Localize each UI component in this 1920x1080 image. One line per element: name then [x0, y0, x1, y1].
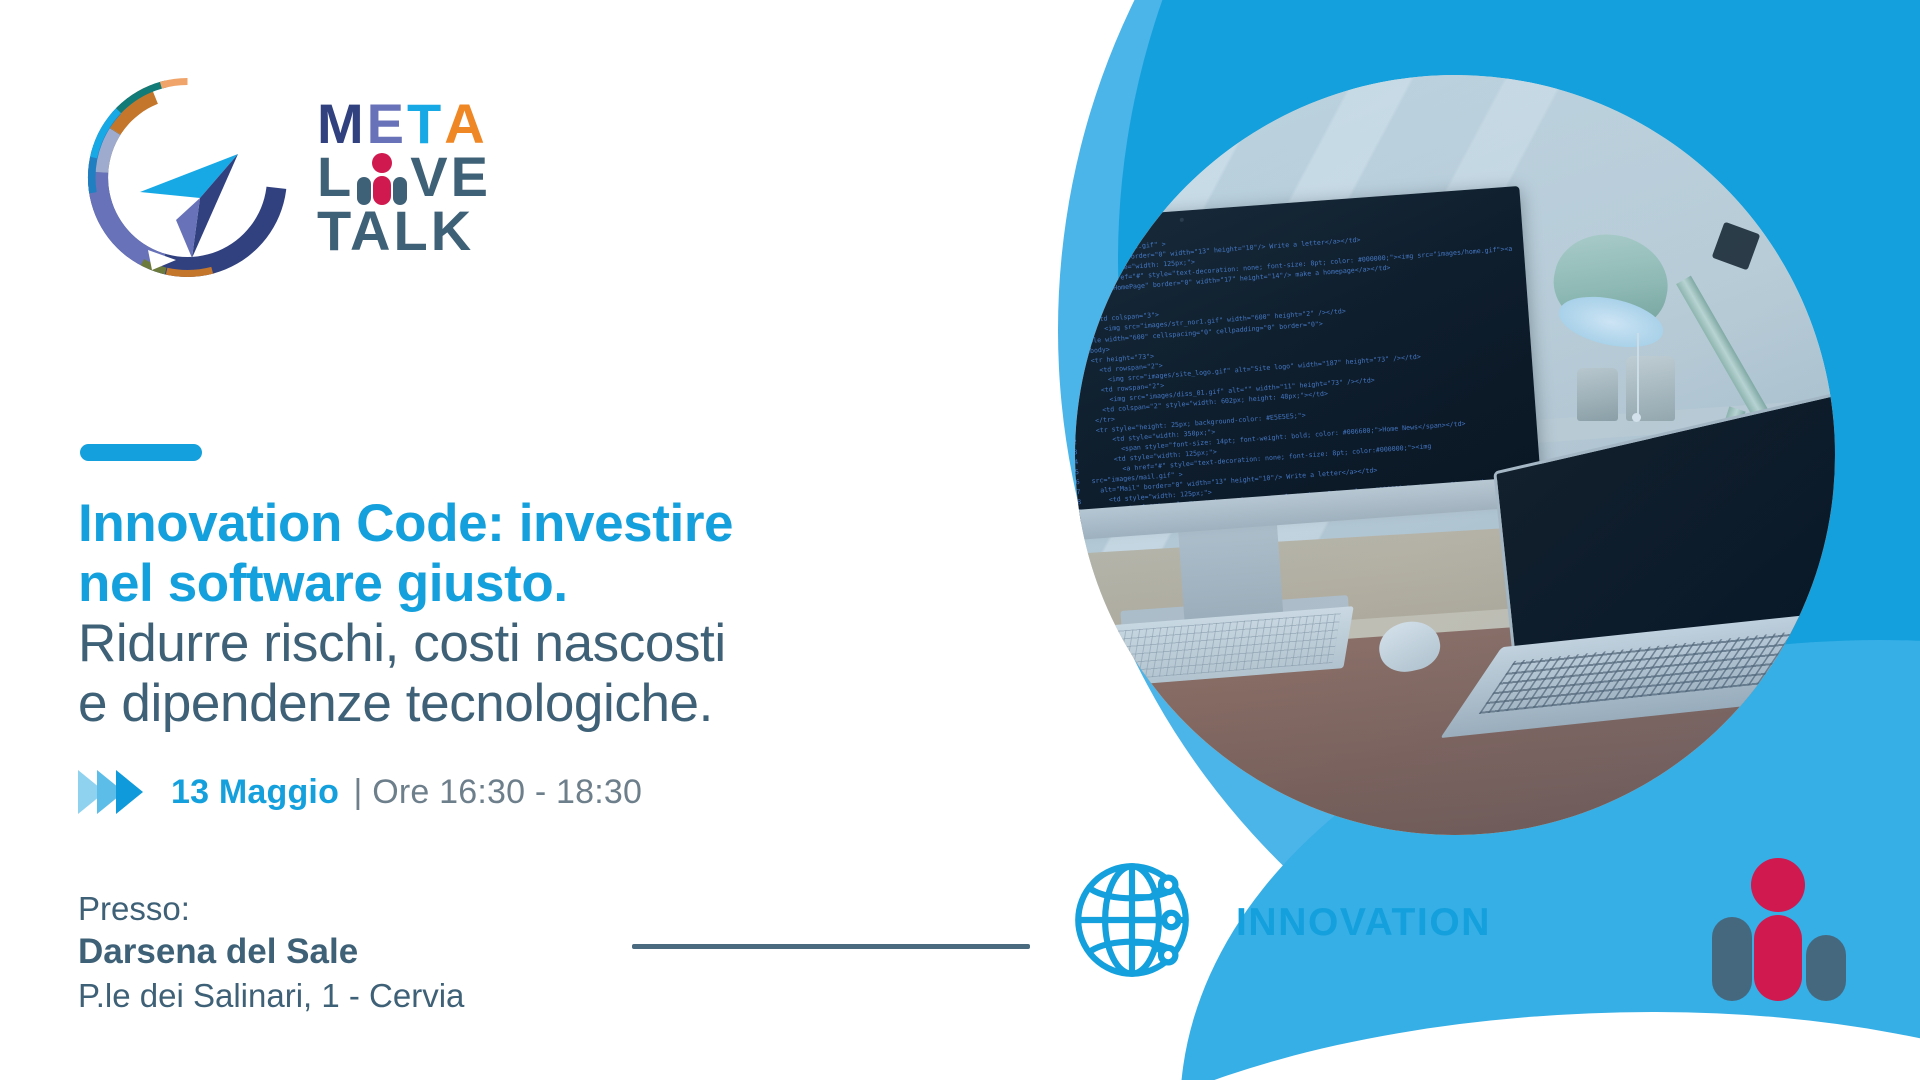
venue-name: Darsena del Sale	[78, 930, 464, 975]
partner-lockup[interactable]: INNOVATION	[1070, 858, 1491, 987]
play-arrows-icon	[78, 770, 143, 814]
photo-blue-tint	[1075, 75, 1835, 835]
logo-letter-a: A	[444, 98, 487, 150]
white-bottom-curve	[980, 1012, 1920, 1080]
logo-live-prefix: L	[317, 151, 354, 205]
event-datetime: 13 Maggio | Ore 16:30 - 18:30	[78, 770, 642, 814]
page-title: Innovation Code: investire nel software …	[78, 494, 938, 734]
accent-bar	[80, 444, 202, 461]
globe-network-icon	[1070, 858, 1194, 987]
headline-line-3: Ridurre rischi, costi nascosti	[78, 614, 938, 674]
event-date: 13 Maggio	[171, 773, 339, 811]
logo-mark-icon	[80, 70, 295, 285]
logo-letter-m: M	[317, 98, 367, 150]
hero-photo-circle: 193 src="images/mail.gif" > 194 alt="Mai…	[1075, 75, 1835, 835]
play-arrow-3-icon	[116, 770, 143, 814]
logo-line-talk: TALK	[317, 205, 491, 257]
event-poster: 193 src="images/mail.gif" > 194 alt="Mai…	[0, 0, 1920, 1080]
headline-line-1: Innovation Code: investire	[78, 494, 938, 554]
three-people-mark-icon	[1710, 855, 1850, 1005]
headline-line-2: nel software giusto.	[78, 554, 938, 614]
venue-block: Presso: Darsena del Sale P.le dei Salina…	[78, 888, 464, 1017]
logo-line-meta: M E T A	[317, 98, 491, 150]
logo-live-suffix: VE	[410, 151, 491, 205]
logo-wordmark: M E T A L VE TALK	[317, 98, 491, 256]
people-glyph-icon	[355, 151, 409, 205]
partner-label: INNOVATION	[1236, 901, 1491, 945]
venue-label: Presso:	[78, 888, 464, 930]
headline-line-4: e dipendenze tecnologiche.	[78, 674, 938, 734]
logo-line-live: L VE	[317, 151, 491, 205]
brand-logo[interactable]: M E T A L VE TALK	[80, 70, 491, 285]
logo-letter-t: T	[407, 98, 444, 150]
logo-letter-e: E	[367, 98, 407, 150]
event-time: | Ore 16:30 - 18:30	[354, 773, 643, 811]
horizontal-divider	[632, 944, 1030, 949]
venue-address: P.le dei Salinari, 1 - Cervia	[78, 975, 464, 1017]
